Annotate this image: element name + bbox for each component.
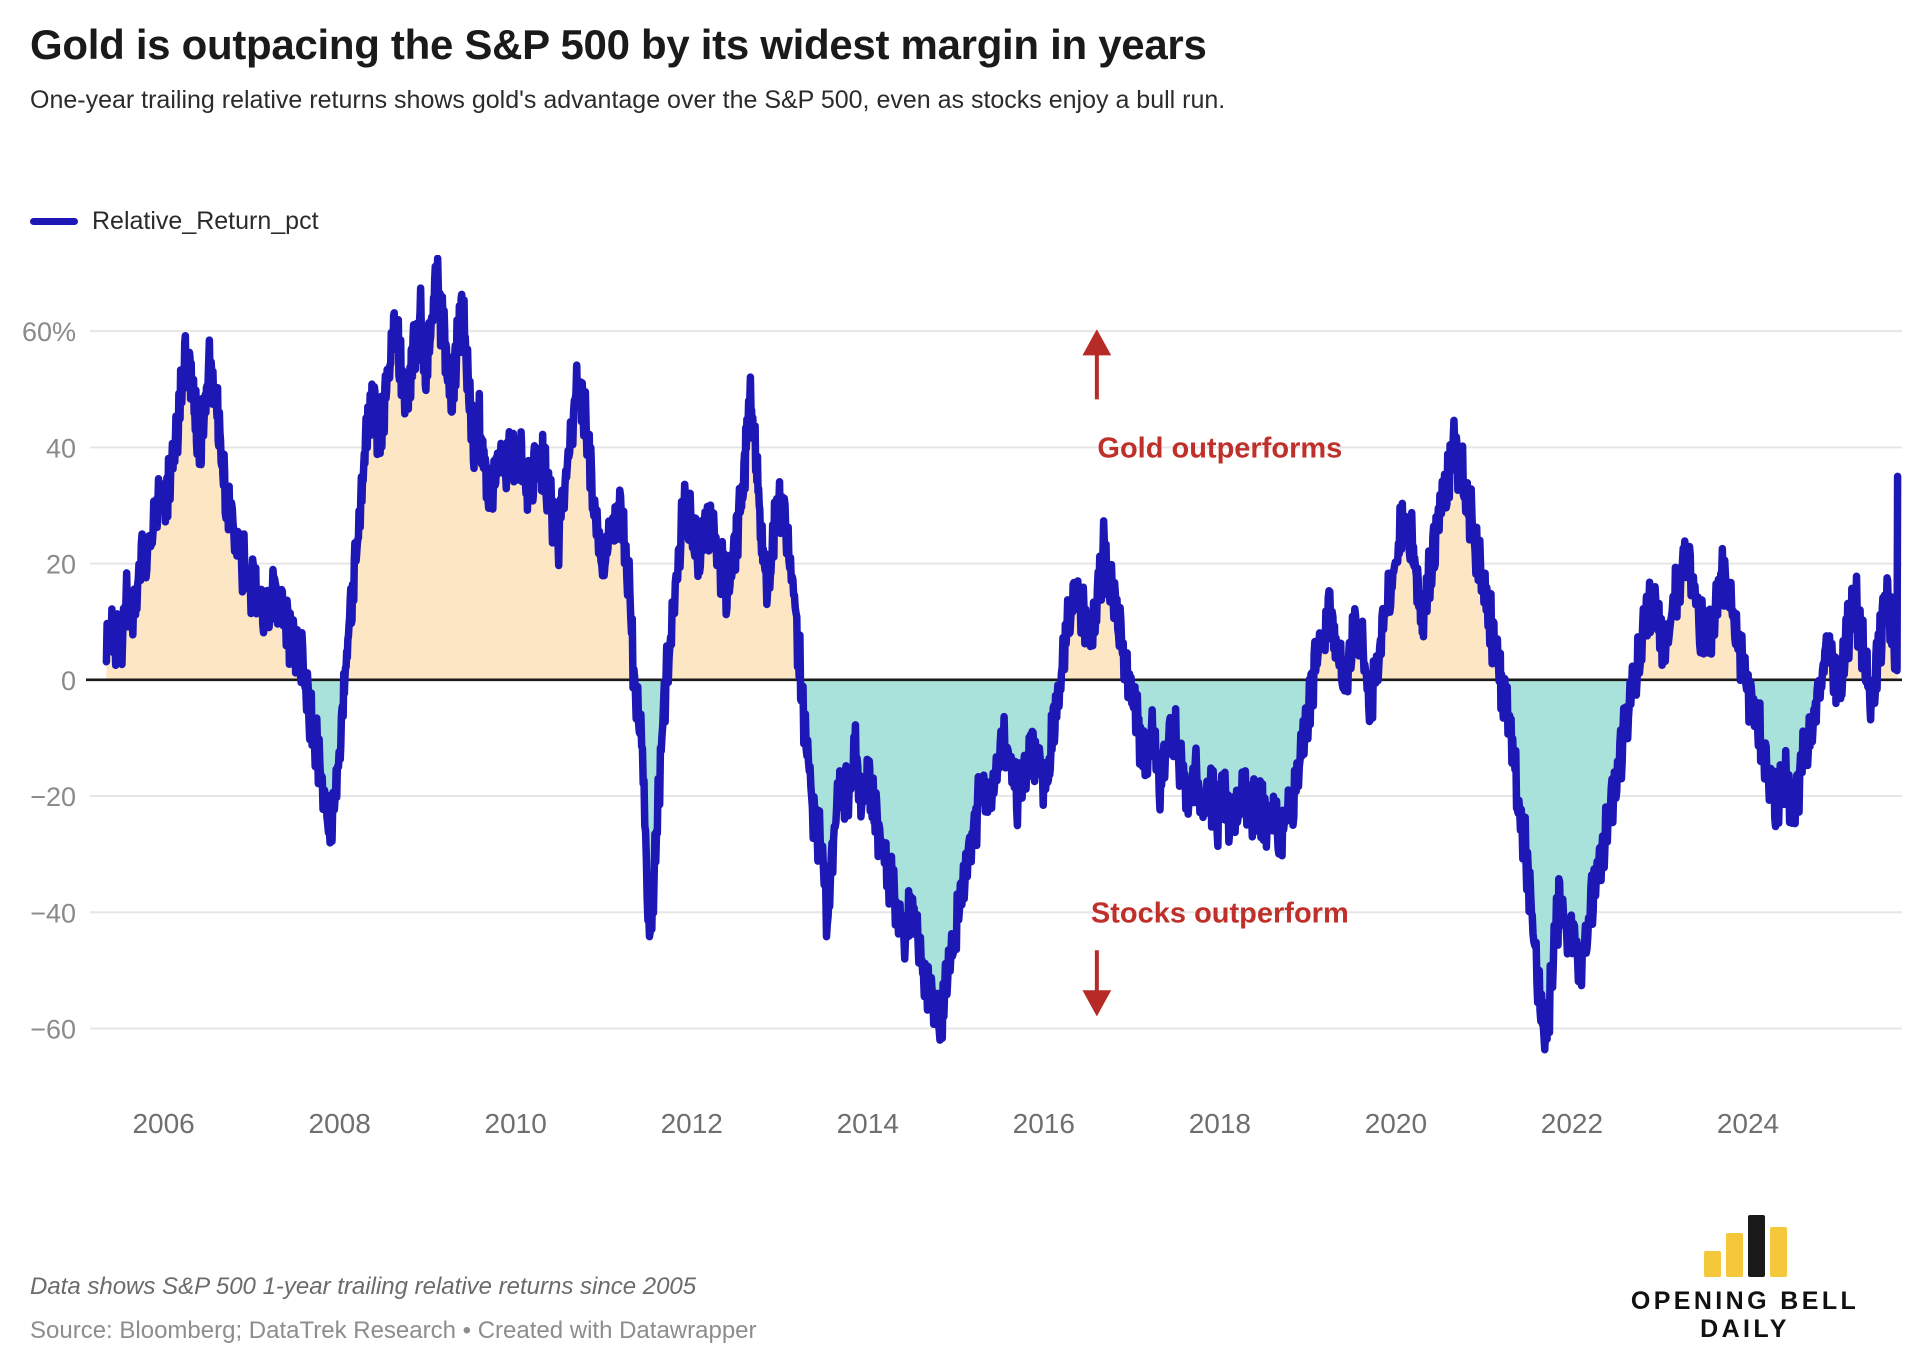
x-tick-label: 2016 [1013, 1108, 1075, 1139]
x-tick-label: 2018 [1189, 1108, 1251, 1139]
chart-footer: Data shows S&P 500 1-year trailing relat… [30, 1273, 757, 1345]
x-axis-tick-labels: 2006200820102012201420162018202020222024 [132, 1108, 1779, 1139]
y-tick-label: −20 [30, 782, 76, 812]
chart-legend: Relative_Return_pct [30, 207, 319, 236]
x-tick-label: 2020 [1365, 1108, 1427, 1139]
logo-text-line2: DAILY [1610, 1315, 1880, 1343]
x-tick-label: 2022 [1541, 1108, 1603, 1139]
logo-bars-icon [1610, 1215, 1880, 1277]
legend-swatch-icon [30, 218, 78, 225]
y-tick-label: −60 [30, 1015, 76, 1045]
logo-text-line1: OPENING BELL [1610, 1287, 1880, 1315]
chart-page: Gold is outpacing the S&P 500 by its wid… [0, 0, 1920, 1371]
y-tick-label: 0 [61, 666, 76, 696]
legend-item-label: Relative_Return_pct [92, 207, 319, 236]
page-subtitle: One-year trailing relative returns shows… [30, 85, 1896, 116]
chart-plot-area: 60%40200−20−40−60 2006200820102012201420… [0, 255, 1920, 1195]
opening-bell-daily-logo: OPENING BELL DAILY [1610, 1215, 1880, 1343]
footer-source: Source: Bloomberg; DataTrek Research • C… [30, 1317, 757, 1345]
y-axis-tick-labels: 60%40200−20−40−60 [22, 317, 76, 1044]
chart-header: Gold is outpacing the S&P 500 by its wid… [30, 22, 1896, 117]
x-tick-label: 2014 [837, 1108, 899, 1139]
relative-return-area-chart: 60%40200−20−40−60 2006200820102012201420… [0, 255, 1920, 1195]
x-tick-label: 2024 [1717, 1108, 1779, 1139]
y-tick-label: −40 [30, 898, 76, 928]
footer-note: Data shows S&P 500 1-year trailing relat… [30, 1273, 757, 1301]
annotation-stocks-outperform: Stocks outperform [1091, 897, 1349, 929]
positive-area-fill [106, 258, 1897, 1049]
y-tick-label: 20 [46, 550, 76, 580]
annotation-gold-outperforms: Gold outperforms [1097, 432, 1342, 464]
x-tick-label: 2010 [485, 1108, 547, 1139]
page-title: Gold is outpacing the S&P 500 by its wid… [30, 22, 1896, 67]
y-tick-label: 60% [22, 317, 76, 347]
y-tick-label: 40 [46, 433, 76, 463]
x-tick-label: 2008 [309, 1108, 371, 1139]
x-tick-label: 2012 [661, 1108, 723, 1139]
x-tick-label: 2006 [132, 1108, 194, 1139]
